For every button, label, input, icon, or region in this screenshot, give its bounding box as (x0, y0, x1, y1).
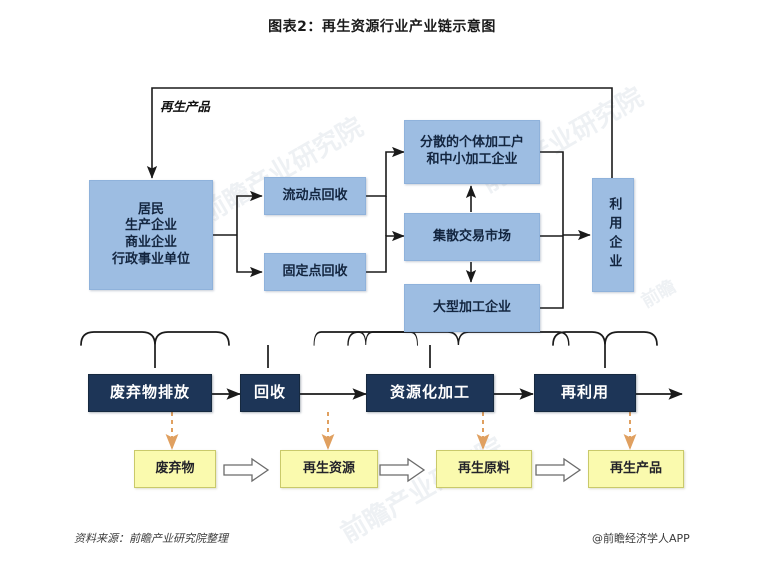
processing-small-line-2: 和中小加工企业 (426, 152, 517, 169)
recycling-to-processing-paths (366, 152, 404, 272)
watermark: 前瞻 (636, 273, 680, 314)
source-note: 资料来源：前瞻产业研究院整理 (74, 530, 228, 546)
feedback-loop-path (152, 88, 612, 180)
source-line-1: 居民 (138, 202, 164, 219)
chain-stage-recovery[interactable]: 回收 (240, 374, 300, 412)
processing-box-large[interactable]: 大型加工企业 (404, 284, 540, 332)
diagram-canvas: 图表2：再生资源行业产业链示意图 前瞻产业研究院 前瞻产业研究院 前瞻 前瞻产业… (0, 0, 764, 581)
source-to-recycling-paths (213, 196, 262, 272)
material-box-recycled-material[interactable]: 再生原料 (436, 450, 532, 488)
feedback-loop-label: 再生产品 (160, 96, 210, 115)
recycling-box-fixed[interactable]: 固定点回收 (264, 253, 366, 291)
source-line-3: 商业企业 (125, 235, 177, 252)
chain-stage-reuse[interactable]: 再利用 (534, 374, 636, 412)
material-box-renewable-resource[interactable]: 再生资源 (280, 450, 378, 488)
page-title: 图表2：再生资源行业产业链示意图 (0, 16, 764, 36)
source-box[interactable]: 居民 生产企业 商业企业 行政事业单位 (89, 180, 213, 290)
processing-box-market[interactable]: 集散交易市场 (404, 213, 540, 261)
material-box-waste[interactable]: 废弃物 (134, 450, 216, 488)
block-arrow (380, 459, 424, 481)
recycling-box-mobile[interactable]: 流动点回收 (264, 177, 366, 215)
block-arrow (536, 459, 580, 481)
material-box-recycled-product[interactable]: 再生产品 (588, 450, 684, 488)
processing-to-utilization-paths (540, 152, 590, 308)
app-credit: @前瞻经济学人APP (592, 530, 690, 546)
watermark: 前瞻产业研究院 (333, 427, 509, 550)
source-line-2: 生产企业 (125, 218, 177, 235)
block-arrow (224, 459, 268, 481)
dashed-connectors (172, 412, 630, 448)
chain-stage-waste-discharge[interactable]: 废弃物排放 (88, 374, 212, 412)
processing-box-small[interactable]: 分散的个体加工户 和中小加工企业 (404, 120, 540, 184)
chain-stage-resource-processing[interactable]: 资源化加工 (366, 374, 494, 412)
processing-small-line-1: 分散的个体加工户 (420, 135, 524, 152)
brace-group (81, 332, 657, 345)
connector-layer (0, 0, 764, 581)
brace-stem-lines (155, 345, 605, 368)
source-line-4: 行政事业单位 (112, 252, 190, 269)
utilization-box[interactable]: 利用企业 (592, 178, 634, 292)
